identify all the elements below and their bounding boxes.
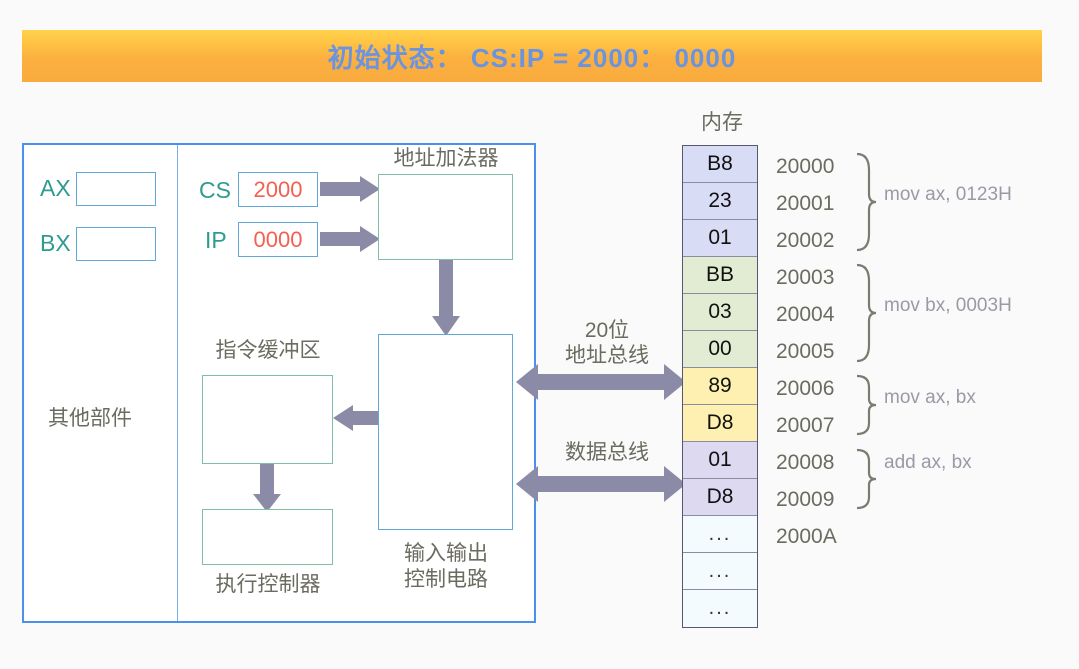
register-label-cs: CS [199, 179, 231, 202]
register-value-ip[interactable]: 0000 [238, 222, 318, 257]
memory-address: 20006 [776, 377, 834, 401]
execution-controller-label: 执行控制器 [193, 572, 343, 598]
arrow-io-to-instruction-buffer [333, 405, 381, 431]
memory-column: B8 23 01 BB 03 00 89 D8 01 D8 ... ... ..… [682, 145, 758, 628]
memory-cell[interactable]: D8 [683, 405, 757, 442]
brace-icon [855, 152, 877, 257]
cpu-inner-divider [177, 145, 178, 621]
register-value-cs[interactable]: 2000 [238, 172, 318, 207]
memory-cell[interactable]: D8 [683, 479, 757, 516]
memory-cell[interactable]: BB [683, 257, 757, 294]
memory-cell[interactable]: 01 [683, 220, 757, 257]
memory-address: 20005 [776, 340, 834, 364]
instruction-buffer-box[interactable] [202, 375, 333, 464]
arrow-adder-to-io [432, 260, 460, 336]
memory-address: 20002 [776, 229, 834, 253]
memory-cell[interactable]: ... [683, 590, 757, 627]
instruction-annotation: mov ax, 0123H [884, 184, 1012, 206]
memory-address: 2000A [776, 525, 837, 549]
memory-address: 20007 [776, 414, 834, 438]
register-label-ip: IP [205, 229, 227, 252]
address-adder-label: 地址加法器 [370, 146, 522, 172]
io-control-circuit-label: 输入输出 控制电路 [376, 541, 516, 592]
memory-address: 20001 [776, 192, 834, 216]
title-banner: 初始状态： CS:IP = 2000： 0000 [22, 30, 1042, 82]
other-components-label: 其他部件 [48, 406, 132, 432]
register-value-bx[interactable] [76, 227, 156, 261]
memory-address: 20004 [776, 303, 834, 327]
memory-cell[interactable]: ... [683, 516, 757, 553]
arrow-cs-to-adder [320, 176, 380, 202]
brace-icon [855, 263, 877, 368]
register-value-ax[interactable] [76, 172, 156, 206]
data-bus-arrow [516, 464, 686, 504]
instruction-annotation: mov bx, 0003H [884, 295, 1012, 317]
memory-cell[interactable]: B8 [683, 146, 757, 183]
diagram-canvas: 初始状态： CS:IP = 2000： 0000 AX BX 其他部件 CS 2… [0, 0, 1079, 669]
banner-title: 初始状态： CS:IP = 2000： 0000 [328, 38, 737, 75]
memory-title: 内存 [682, 106, 762, 136]
arrow-ip-to-adder [320, 226, 380, 252]
register-label-bx: BX [40, 232, 71, 255]
memory-cell[interactable]: 23 [683, 183, 757, 220]
memory-cell[interactable]: ... [683, 553, 757, 590]
arrow-buffer-to-controller [253, 464, 281, 512]
memory-cell[interactable]: 03 [683, 294, 757, 331]
memory-address: 20009 [776, 488, 834, 512]
execution-controller-box[interactable] [202, 509, 333, 565]
memory-cell[interactable]: 01 [683, 442, 757, 479]
memory-address: 20008 [776, 451, 834, 475]
instruction-buffer-label: 指令缓冲区 [193, 338, 343, 364]
memory-cell[interactable]: 00 [683, 331, 757, 368]
address-bus-label: 20位 地址总线 [522, 318, 692, 368]
brace-icon [855, 448, 877, 515]
data-bus-label: 数据总线 [522, 440, 692, 465]
memory-cell[interactable]: 89 [683, 368, 757, 405]
register-label-ax: AX [40, 177, 71, 200]
io-control-circuit-box[interactable] [378, 334, 513, 530]
brace-icon [855, 374, 877, 441]
memory-address: 20003 [776, 266, 834, 290]
address-adder-box[interactable] [378, 174, 513, 260]
instruction-annotation: add ax, bx [884, 452, 972, 474]
address-bus-arrow [516, 362, 686, 402]
memory-address: 20000 [776, 155, 834, 179]
instruction-annotation: mov ax, bx [884, 387, 976, 409]
